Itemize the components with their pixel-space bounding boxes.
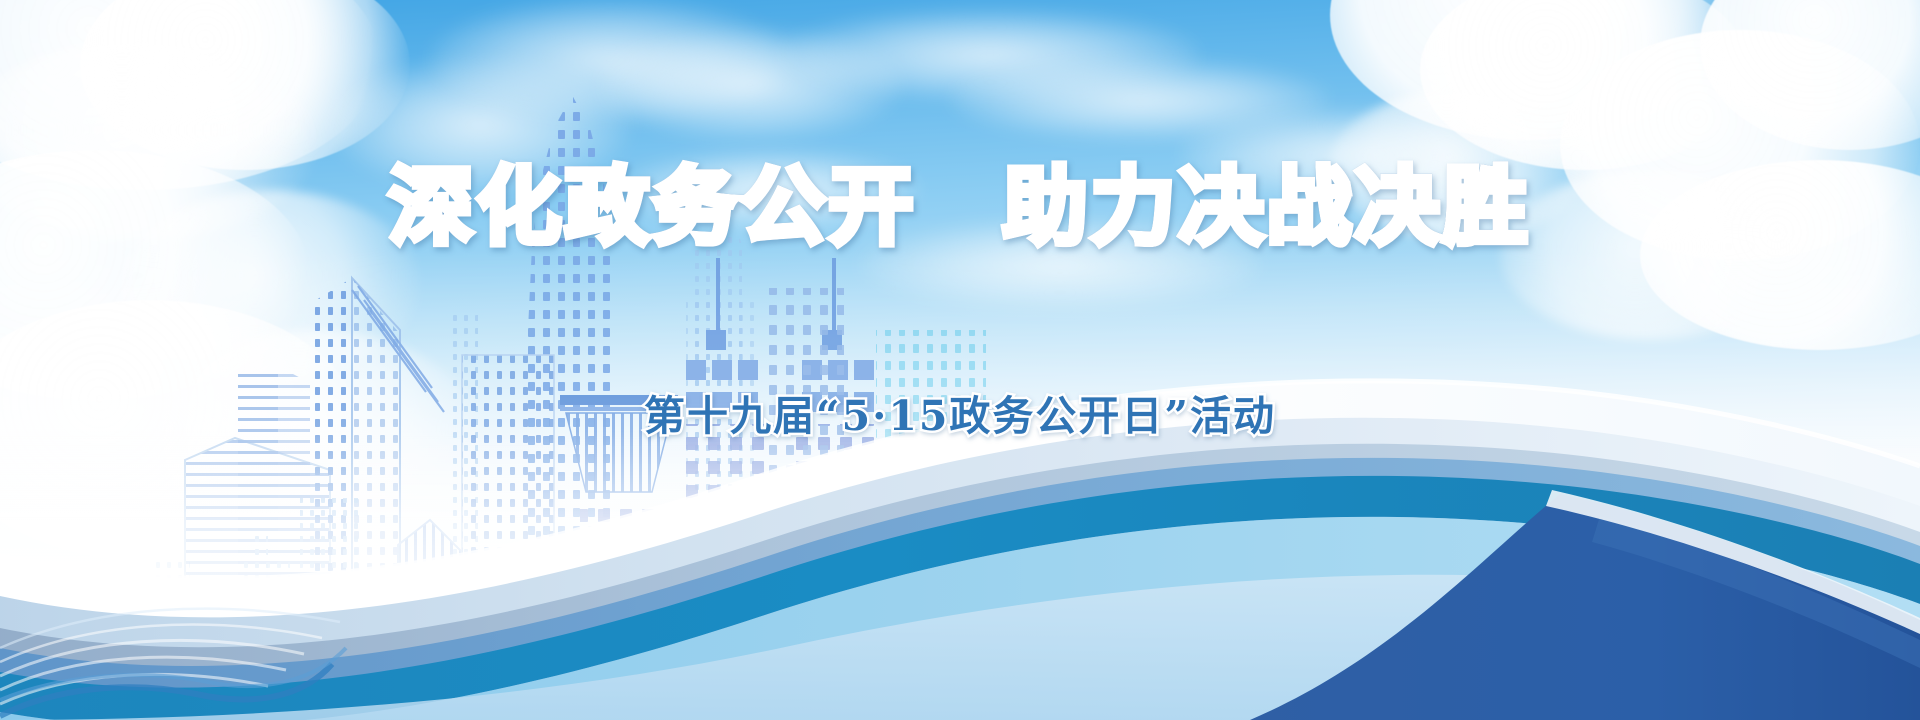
wave-ribbons xyxy=(0,0,1920,720)
government-openness-day-banner: 深化政务公开 助力决战决胜 第十九届“5·15政务公开日”活动 xyxy=(0,0,1920,720)
